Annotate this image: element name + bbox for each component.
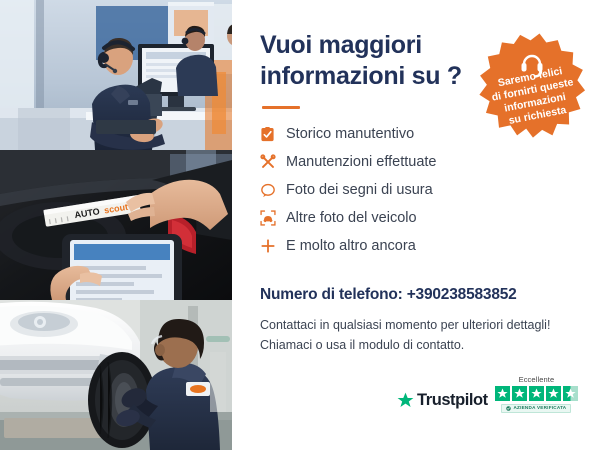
headline-line-1: Vuoi maggiori <box>260 31 422 59</box>
trustpilot-widget[interactable]: Trustpilot Eccellente <box>397 376 578 413</box>
star-1 <box>495 386 511 402</box>
feature-label: Altre foto del veicolo <box>286 211 417 226</box>
speech-bubble-icon <box>260 180 286 200</box>
photo-column: AUTO scout <box>0 0 232 450</box>
feature-item-manutenzioni-effettuate: Manutenzioni effettuate <box>260 149 582 176</box>
feature-label: Storico manutentivo <box>286 127 414 142</box>
headline-divider <box>262 106 300 109</box>
feature-item-foto-segni-usura: Foto dei segni di usura <box>260 177 582 204</box>
verified-business-badge: AZIENDA VERIFICATA <box>501 404 571 413</box>
feature-label: Manutenzioni effettuate <box>286 155 436 170</box>
car-damage-inspection-photo: AUTO scout <box>0 150 232 300</box>
car-scan-frame-icon <box>260 208 286 228</box>
feature-label: E molto altro ancora <box>286 239 416 254</box>
star-2 <box>512 386 528 402</box>
star-4 <box>546 386 562 402</box>
verified-check-icon <box>506 406 511 411</box>
verified-business-label: AZIENDA VERIFICATA <box>513 406 566 411</box>
trustpilot-rating-label: Eccellente <box>519 376 555 384</box>
feature-item-storico-manutentivo: Storico manutentivo <box>260 121 582 148</box>
clipboard-check-icon <box>260 124 286 144</box>
mechanic-wheel-inspection-photo <box>0 300 232 450</box>
trustpilot-stars <box>495 386 579 402</box>
page-title: Vuoi maggiori informazioni su ? <box>260 30 465 92</box>
trustpilot-wordmark: Trustpilot <box>417 392 488 409</box>
feature-item-altre-foto-veicolo: Altre foto del veicolo <box>260 205 582 232</box>
call-center-agents-photo <box>0 0 232 150</box>
content-panel: Vuoi maggiori informazioni su ? Saremo f… <box>232 0 600 450</box>
star-3 <box>529 386 545 402</box>
contact-block: Numero di telefono: +390238583852 Contat… <box>260 286 582 356</box>
feature-list: Storico manutentivo Manutenzioni effettu… <box>260 121 582 260</box>
plus-icon <box>260 236 286 256</box>
contact-note-line-1: Contattaci in qualsiasi momento per ulte… <box>260 315 582 335</box>
contact-note-line-2: Chiamaci o usa il modulo di contatto. <box>260 335 582 355</box>
trustpilot-star-icon <box>397 392 414 409</box>
trustpilot-logo: Trustpilot <box>397 392 488 413</box>
trustpilot-rating: Eccellente <box>495 376 579 413</box>
headline-line-2: informazioni su ? <box>260 62 462 90</box>
tools-cross-icon <box>260 152 286 172</box>
feature-label: Foto dei segni di usura <box>286 183 433 198</box>
star-5-half <box>563 386 579 402</box>
phone-number-line: Numero di telefono: +390238583852 <box>260 286 582 304</box>
feature-item-molto-altro: E molto altro ancora <box>260 233 582 260</box>
advertisement-banner: AUTO scout <box>0 0 600 450</box>
